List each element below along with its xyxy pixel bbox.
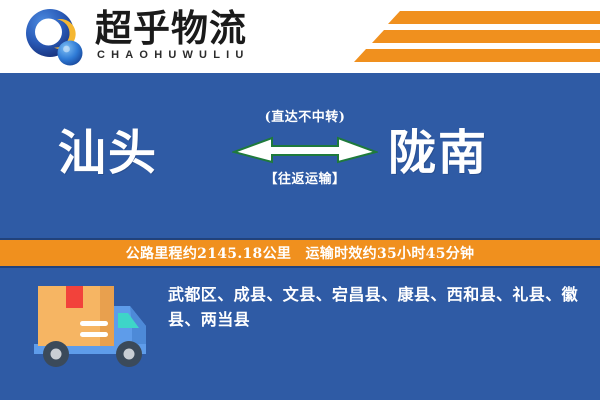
header-stripes-decoration [310,0,600,73]
delivery-truck-icon [26,280,154,372]
coverage-panel: 武都区、成县、文县、宕昌县、康县、西和县、礼县、徽县、两当县 [0,268,600,400]
stripe-3 [354,49,600,62]
round-trip-note: 【往返运输】 [232,171,378,189]
route-panel: 汕头 (直达不中转) 【往返运输】 陇南 [0,73,600,238]
circular-q-logo-icon [24,8,84,68]
double-headed-arrow-icon [232,133,378,165]
origin-city: 汕头 [58,123,158,183]
brand-name-cn: 超乎物流 [95,6,247,50]
brand-name-en: CHAOHUWULIU [97,49,250,61]
distance-duration-text: 公路里程约2145.18公里 运输时效约35小时45分钟 [126,243,475,263]
logistics-route-banner: 超乎物流 CHAOHUWULIU 汕头 (直达不中转) 【往返运输】 陇南 公路… [0,0,600,400]
stripe-1 [388,11,600,24]
banner-header: 超乎物流 CHAOHUWULIU [0,0,600,73]
coverage-districts-text: 武都区、成县、文县、宕昌县、康县、西和县、礼县、徽县、两当县 [168,282,580,332]
direct-service-note: (直达不中转) [232,109,378,127]
route-middle-group: (直达不中转) 【往返运输】 [232,109,378,209]
stripe-2 [372,30,600,43]
distance-duration-bar: 公路里程约2145.18公里 运输时效约35小时45分钟 [0,238,600,268]
destination-city: 陇南 [388,123,488,183]
